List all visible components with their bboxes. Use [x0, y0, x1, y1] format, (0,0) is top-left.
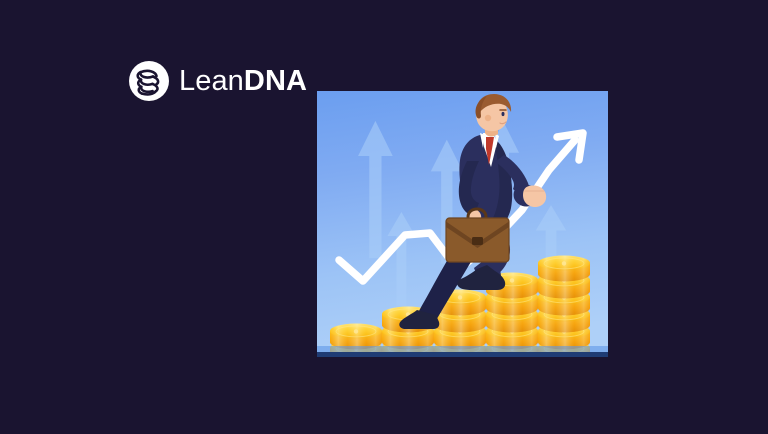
brand-name-bold: DNA	[244, 65, 307, 97]
brand-wordmark: LeanDNA	[179, 67, 307, 96]
brand-name-light: Lean	[179, 65, 244, 97]
ear	[485, 115, 491, 121]
eye	[502, 112, 505, 116]
briefcase-latch	[472, 237, 483, 245]
banner-root: LeanDNA	[0, 0, 768, 434]
ground-highlight	[317, 346, 608, 352]
brand-lockup[interactable]: LeanDNA	[128, 60, 307, 102]
growth-illustration-svg	[317, 91, 608, 357]
growth-illustration	[317, 91, 608, 357]
coin-stack-5	[538, 256, 590, 358]
ground-strip	[317, 352, 608, 357]
leandna-helix-logo-icon	[128, 60, 170, 102]
